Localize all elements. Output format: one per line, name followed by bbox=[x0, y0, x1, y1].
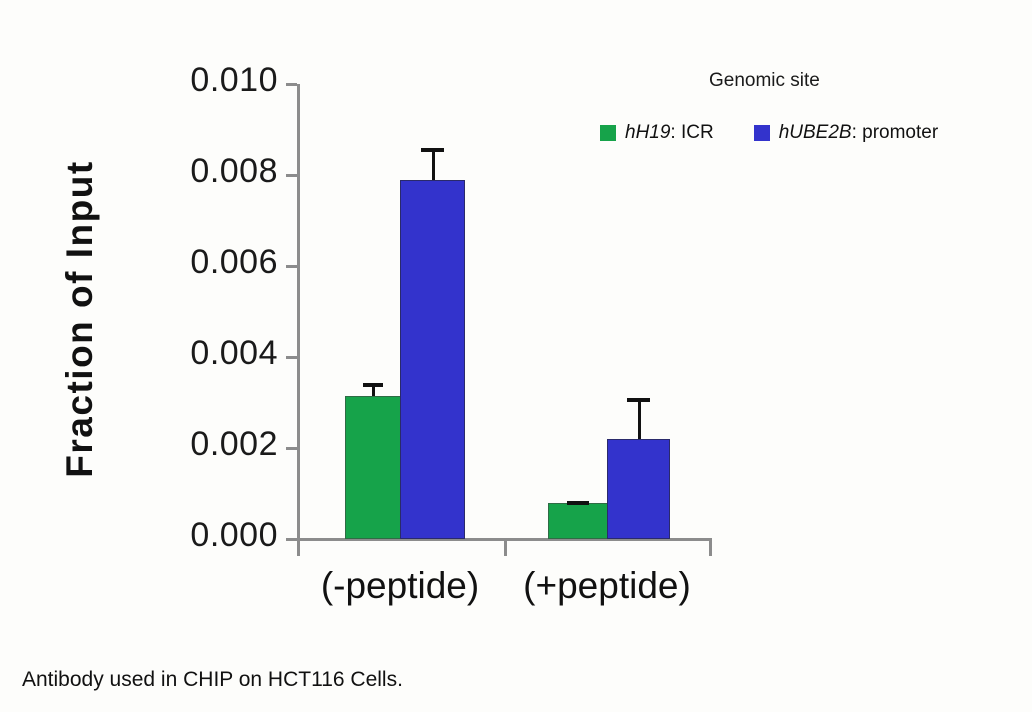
legend-label: hH19: ICR bbox=[625, 122, 714, 144]
figure-caption: Antibody used in CHIP on HCT116 Cells. bbox=[22, 668, 403, 692]
y-axis-line bbox=[297, 84, 300, 540]
error-bar-cap bbox=[421, 148, 444, 152]
y-axis-tick-mark bbox=[286, 538, 297, 541]
error-bar-stem bbox=[432, 148, 435, 180]
bar-hube2b-group-2 bbox=[607, 439, 670, 539]
category-tick-start bbox=[297, 538, 300, 556]
category-tick-middle bbox=[504, 538, 507, 556]
y-axis-title: Fraction of Input bbox=[59, 109, 101, 529]
category-tick-end bbox=[709, 538, 712, 556]
error-bar-cap bbox=[567, 501, 589, 505]
legend-label: hUBE2B: promoter bbox=[779, 122, 938, 144]
y-axis-tick-label: 0.002 bbox=[128, 425, 278, 464]
y-axis-tick-mark bbox=[286, 174, 297, 177]
y-axis-tick-mark bbox=[286, 356, 297, 359]
y-axis-tick-mark bbox=[286, 265, 297, 268]
y-axis-tick-label: 0.010 bbox=[128, 61, 278, 100]
legend: hH19: ICRhUBE2B: promoter bbox=[600, 122, 978, 144]
legend-entry-2[interactable]: hUBE2B: promoter bbox=[754, 122, 938, 144]
legend-entry-1[interactable]: hH19: ICR bbox=[600, 122, 714, 144]
y-axis-tick-label: 0.004 bbox=[128, 334, 278, 373]
error-bar-cap bbox=[627, 398, 650, 402]
error-bar-cap bbox=[363, 383, 383, 387]
y-axis-tick-label: 0.008 bbox=[128, 152, 278, 191]
legend-title: Genomic site bbox=[709, 70, 820, 92]
y-axis-tick-label: 0.000 bbox=[128, 516, 278, 555]
y-axis-tick-label: 0.006 bbox=[128, 243, 278, 282]
legend-swatch-hh19 bbox=[600, 125, 616, 141]
chart-figure: Fraction of Input 0.0100.0080.0060.0040.… bbox=[0, 0, 1032, 712]
y-axis-tick-mark bbox=[286, 83, 297, 86]
bar-hh19-group-2 bbox=[548, 503, 608, 539]
legend-swatch-hube2b bbox=[754, 125, 770, 141]
error-bar-stem bbox=[638, 398, 641, 439]
y-axis-tick-mark bbox=[286, 447, 297, 450]
x-axis-category-label: (+peptide) bbox=[447, 565, 767, 607]
bar-hh19-group-1 bbox=[345, 396, 401, 539]
bar-hube2b-group-1 bbox=[400, 180, 465, 539]
